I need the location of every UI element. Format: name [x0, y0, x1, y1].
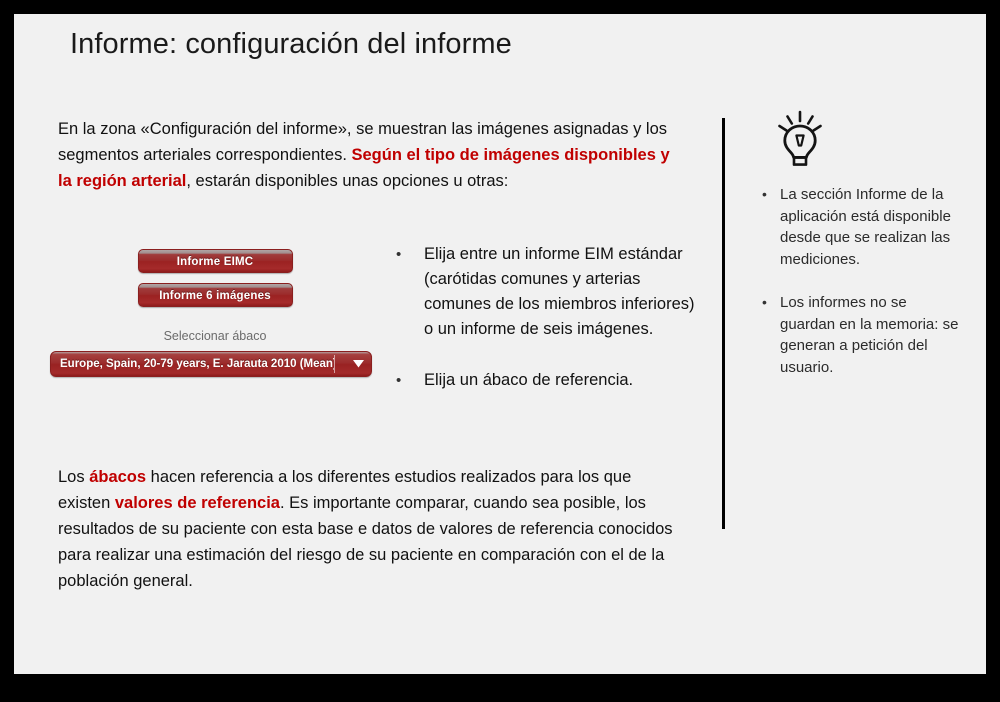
list-item-text: Elija un ábaco de referencia. — [424, 368, 696, 393]
seleccionar-abaco-label: Seleccionar ábaco — [50, 329, 380, 343]
options-bullet-list: • Elija entre un informe EIM estándar (c… — [396, 242, 696, 393]
bullet-marker: • — [754, 184, 780, 270]
chevron-down-icon[interactable] — [345, 360, 371, 368]
abaco-dropdown[interactable]: Europe, Spain, 20-79 years, E. Jarauta 2… — [50, 351, 372, 377]
list-item: • Los informes no se guardan en la memor… — [754, 292, 964, 378]
list-item: • Elija entre un informe EIM estándar (c… — [396, 242, 696, 342]
lightbulb-icon — [774, 110, 826, 168]
tips-panel: • La sección Informe de la aplicación es… — [754, 110, 964, 378]
bullet-marker: • — [396, 368, 424, 393]
page-title: Informe: configuración del informe — [70, 28, 512, 61]
dropdown-separator — [334, 355, 335, 373]
bullet-marker: • — [754, 292, 780, 378]
informe-eimc-button[interactable]: Informe EIMC — [138, 249, 293, 273]
list-item: • La sección Informe de la aplicación es… — [754, 184, 964, 270]
tips-bullet-list: • La sección Informe de la aplicación es… — [754, 184, 964, 378]
bottom-text-part1: Los — [58, 468, 89, 486]
informe-6-imagenes-button[interactable]: Informe 6 imágenes — [138, 283, 293, 307]
intro-text-part2: , estarán disponibles unas opciones u ot… — [186, 172, 508, 190]
bottom-highlight-abacos: ábacos — [89, 468, 146, 486]
intro-paragraph: En la zona «Configuración del informe», … — [58, 116, 683, 194]
vertical-divider — [722, 118, 725, 529]
list-item-text: Los informes no se guardan en la memoria… — [780, 292, 964, 378]
list-item-text: Elija entre un informe EIM estándar (car… — [424, 242, 696, 342]
bullet-marker: • — [396, 242, 424, 342]
list-item: • Elija un ábaco de referencia. — [396, 368, 696, 393]
bottom-paragraph: Los ábacos hacen referencia a los difere… — [58, 464, 688, 594]
report-settings-mock: Informe EIMC Informe 6 imágenes Seleccio… — [50, 249, 380, 377]
abaco-dropdown-value: Europe, Spain, 20-79 years, E. Jarauta 2… — [51, 358, 334, 370]
slide-canvas: Informe: configuración del informe En la… — [14, 14, 986, 674]
bottom-highlight-valores: valores de referencia — [115, 494, 280, 512]
list-item-text: La sección Informe de la aplicación está… — [780, 184, 964, 270]
